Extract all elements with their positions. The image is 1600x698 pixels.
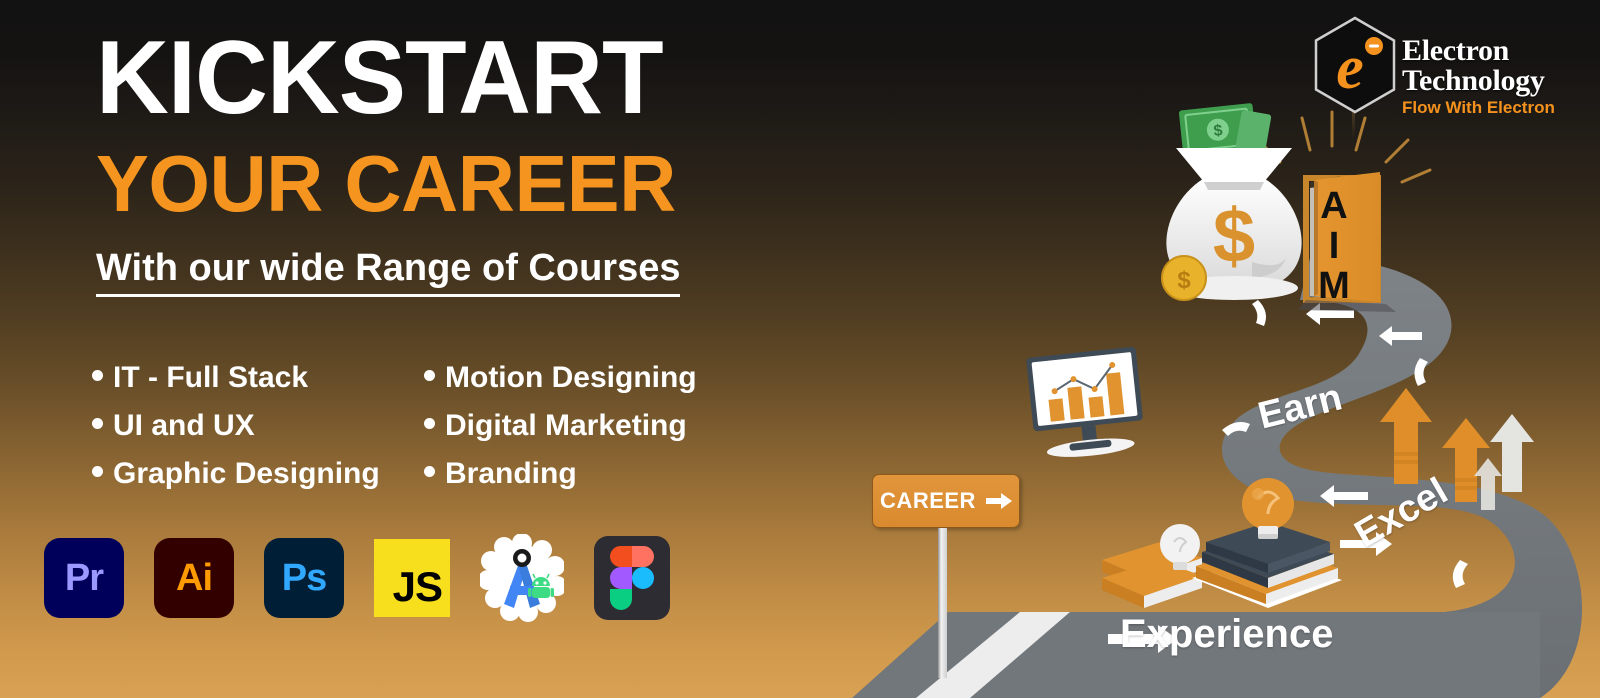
figma-segment-bottom-left bbox=[610, 589, 632, 610]
software-icon-row: Pr Ai Ps JS bbox=[44, 534, 670, 622]
headline-line1: KICKSTART bbox=[96, 26, 833, 130]
figma-glyph bbox=[610, 546, 654, 610]
svg-text:$: $ bbox=[1213, 122, 1224, 140]
headline-block: KICKSTART YOUR CAREER With our wide Rang… bbox=[96, 26, 856, 297]
bullet-icon bbox=[92, 418, 103, 429]
career-sign-plate: CAREER bbox=[872, 474, 1020, 528]
illustrator-tile: Ai bbox=[154, 538, 234, 618]
illustrator-label: Ai bbox=[176, 557, 212, 600]
signpost-pole bbox=[938, 528, 947, 678]
aim-letter-m: M bbox=[1317, 266, 1351, 306]
money-bag-icon: $ $ $ bbox=[1162, 103, 1302, 300]
career-sign-label: CAREER bbox=[880, 488, 976, 514]
course-list: IT - Full Stack UI and UX Graphic Design… bbox=[92, 358, 792, 494]
premiere-pro-tile: Pr bbox=[44, 538, 124, 618]
course-label: Graphic Designing bbox=[113, 454, 380, 494]
list-item: Graphic Designing bbox=[92, 454, 402, 494]
road-label-experience: Experience bbox=[1120, 612, 1333, 657]
svg-text:e: e bbox=[1336, 34, 1364, 102]
career-signpost: CAREER bbox=[872, 474, 1022, 530]
photoshop-tile: Ps bbox=[264, 538, 344, 618]
course-label: UI and UX bbox=[113, 406, 255, 446]
course-label: Motion Designing bbox=[445, 358, 697, 398]
list-item: Motion Designing bbox=[424, 358, 754, 398]
javascript-label: JS bbox=[393, 563, 442, 611]
svg-text:$: $ bbox=[1177, 267, 1191, 294]
list-item: UI and UX bbox=[92, 406, 402, 446]
brand-name-line2: Technology bbox=[1402, 66, 1592, 96]
aim-letter-a: A bbox=[1317, 186, 1351, 226]
bullet-icon bbox=[424, 370, 435, 381]
headline-subtitle: With our wide Range of Courses bbox=[96, 246, 680, 297]
figma-tile bbox=[594, 536, 670, 620]
logo-stem bbox=[1352, 112, 1355, 138]
list-item: IT - Full Stack bbox=[92, 358, 402, 398]
door-label-aim: A I M bbox=[1317, 186, 1351, 306]
brand-tagline: Flow With Electron bbox=[1402, 98, 1592, 118]
android-studio-icon[interactable] bbox=[480, 534, 564, 622]
bullet-icon bbox=[424, 418, 435, 429]
premiere-pro-icon[interactable]: Pr bbox=[44, 538, 124, 618]
aim-letter-i: I bbox=[1317, 226, 1351, 266]
right-arrow-icon bbox=[986, 493, 1012, 509]
javascript-tile: JS bbox=[374, 539, 450, 617]
photoshop-label: Ps bbox=[282, 557, 326, 600]
photoshop-icon[interactable]: Ps bbox=[264, 538, 344, 618]
course-label: IT - Full Stack bbox=[113, 358, 308, 398]
brand-logo[interactable]: e Electron Technology Flow With Electron bbox=[1312, 16, 1592, 121]
bullet-icon bbox=[92, 370, 103, 381]
premiere-pro-label: Pr bbox=[65, 557, 103, 600]
headline-line2: YOUR CAREER bbox=[96, 138, 848, 230]
illustrator-icon[interactable]: Ai bbox=[154, 538, 234, 618]
figma-segment-mid-left bbox=[610, 567, 632, 589]
brand-wordmark: Electron Technology Flow With Electron bbox=[1402, 36, 1592, 118]
figma-segment-top-left bbox=[610, 546, 632, 567]
course-column-right: Motion Designing Digital Marketing Brand… bbox=[424, 358, 754, 494]
bullet-icon bbox=[92, 466, 103, 477]
course-column-left: IT - Full Stack UI and UX Graphic Design… bbox=[92, 358, 402, 494]
figma-segment-top-right bbox=[632, 546, 654, 567]
svg-text:$: $ bbox=[1213, 194, 1255, 279]
figma-icon[interactable] bbox=[594, 536, 670, 620]
course-label: Digital Marketing bbox=[445, 406, 687, 446]
banner-root: $ $ $ bbox=[0, 0, 1600, 698]
brand-name-line1: Electron bbox=[1402, 36, 1592, 66]
javascript-icon[interactable]: JS bbox=[374, 539, 450, 617]
android-studio-tile bbox=[480, 534, 564, 622]
course-label: Branding bbox=[445, 454, 577, 494]
list-item: Branding bbox=[424, 454, 754, 494]
list-item: Digital Marketing bbox=[424, 406, 754, 446]
bullet-icon bbox=[424, 466, 435, 477]
figma-segment-mid-right bbox=[632, 567, 654, 589]
monitor-chart-icon bbox=[1026, 347, 1146, 462]
electron-hexagon-icon: e bbox=[1312, 16, 1398, 114]
